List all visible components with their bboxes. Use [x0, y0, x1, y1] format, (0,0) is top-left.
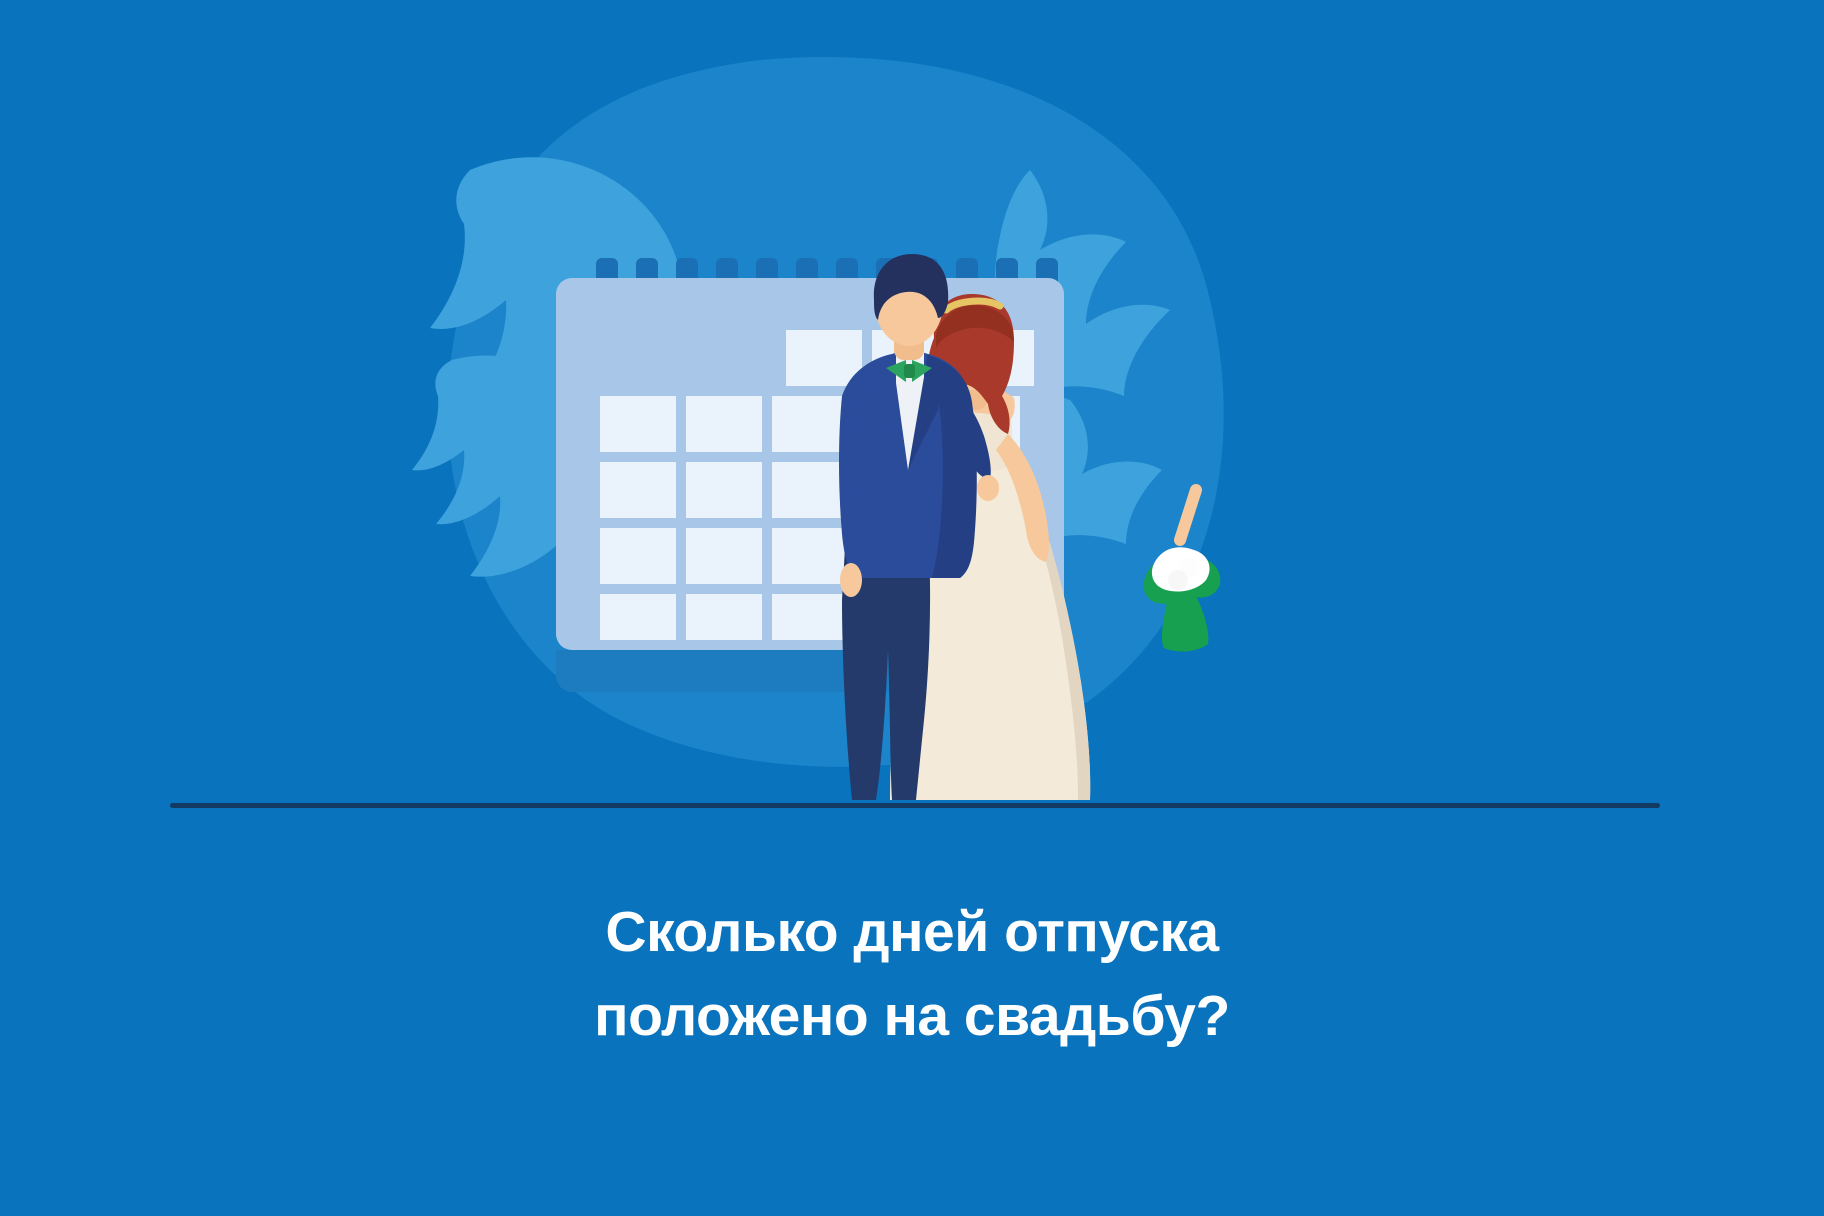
bouquet-wrap	[1162, 596, 1208, 651]
page-title-line-1: Сколько дней отпуска	[0, 890, 1824, 974]
page-title: Сколько дней отпуска положено на свадьбу…	[0, 890, 1824, 1058]
groom-right-hand	[977, 475, 999, 501]
bouquet-flower-3	[1168, 570, 1188, 590]
divider-line	[170, 803, 1660, 808]
groom-left-hand	[840, 563, 862, 597]
poster-canvas: Сколько дней отпуска положено на свадьбу…	[0, 0, 1824, 1216]
page-title-line-2: положено на свадьбу?	[0, 974, 1824, 1058]
groom-bowtie-knot	[904, 364, 915, 378]
